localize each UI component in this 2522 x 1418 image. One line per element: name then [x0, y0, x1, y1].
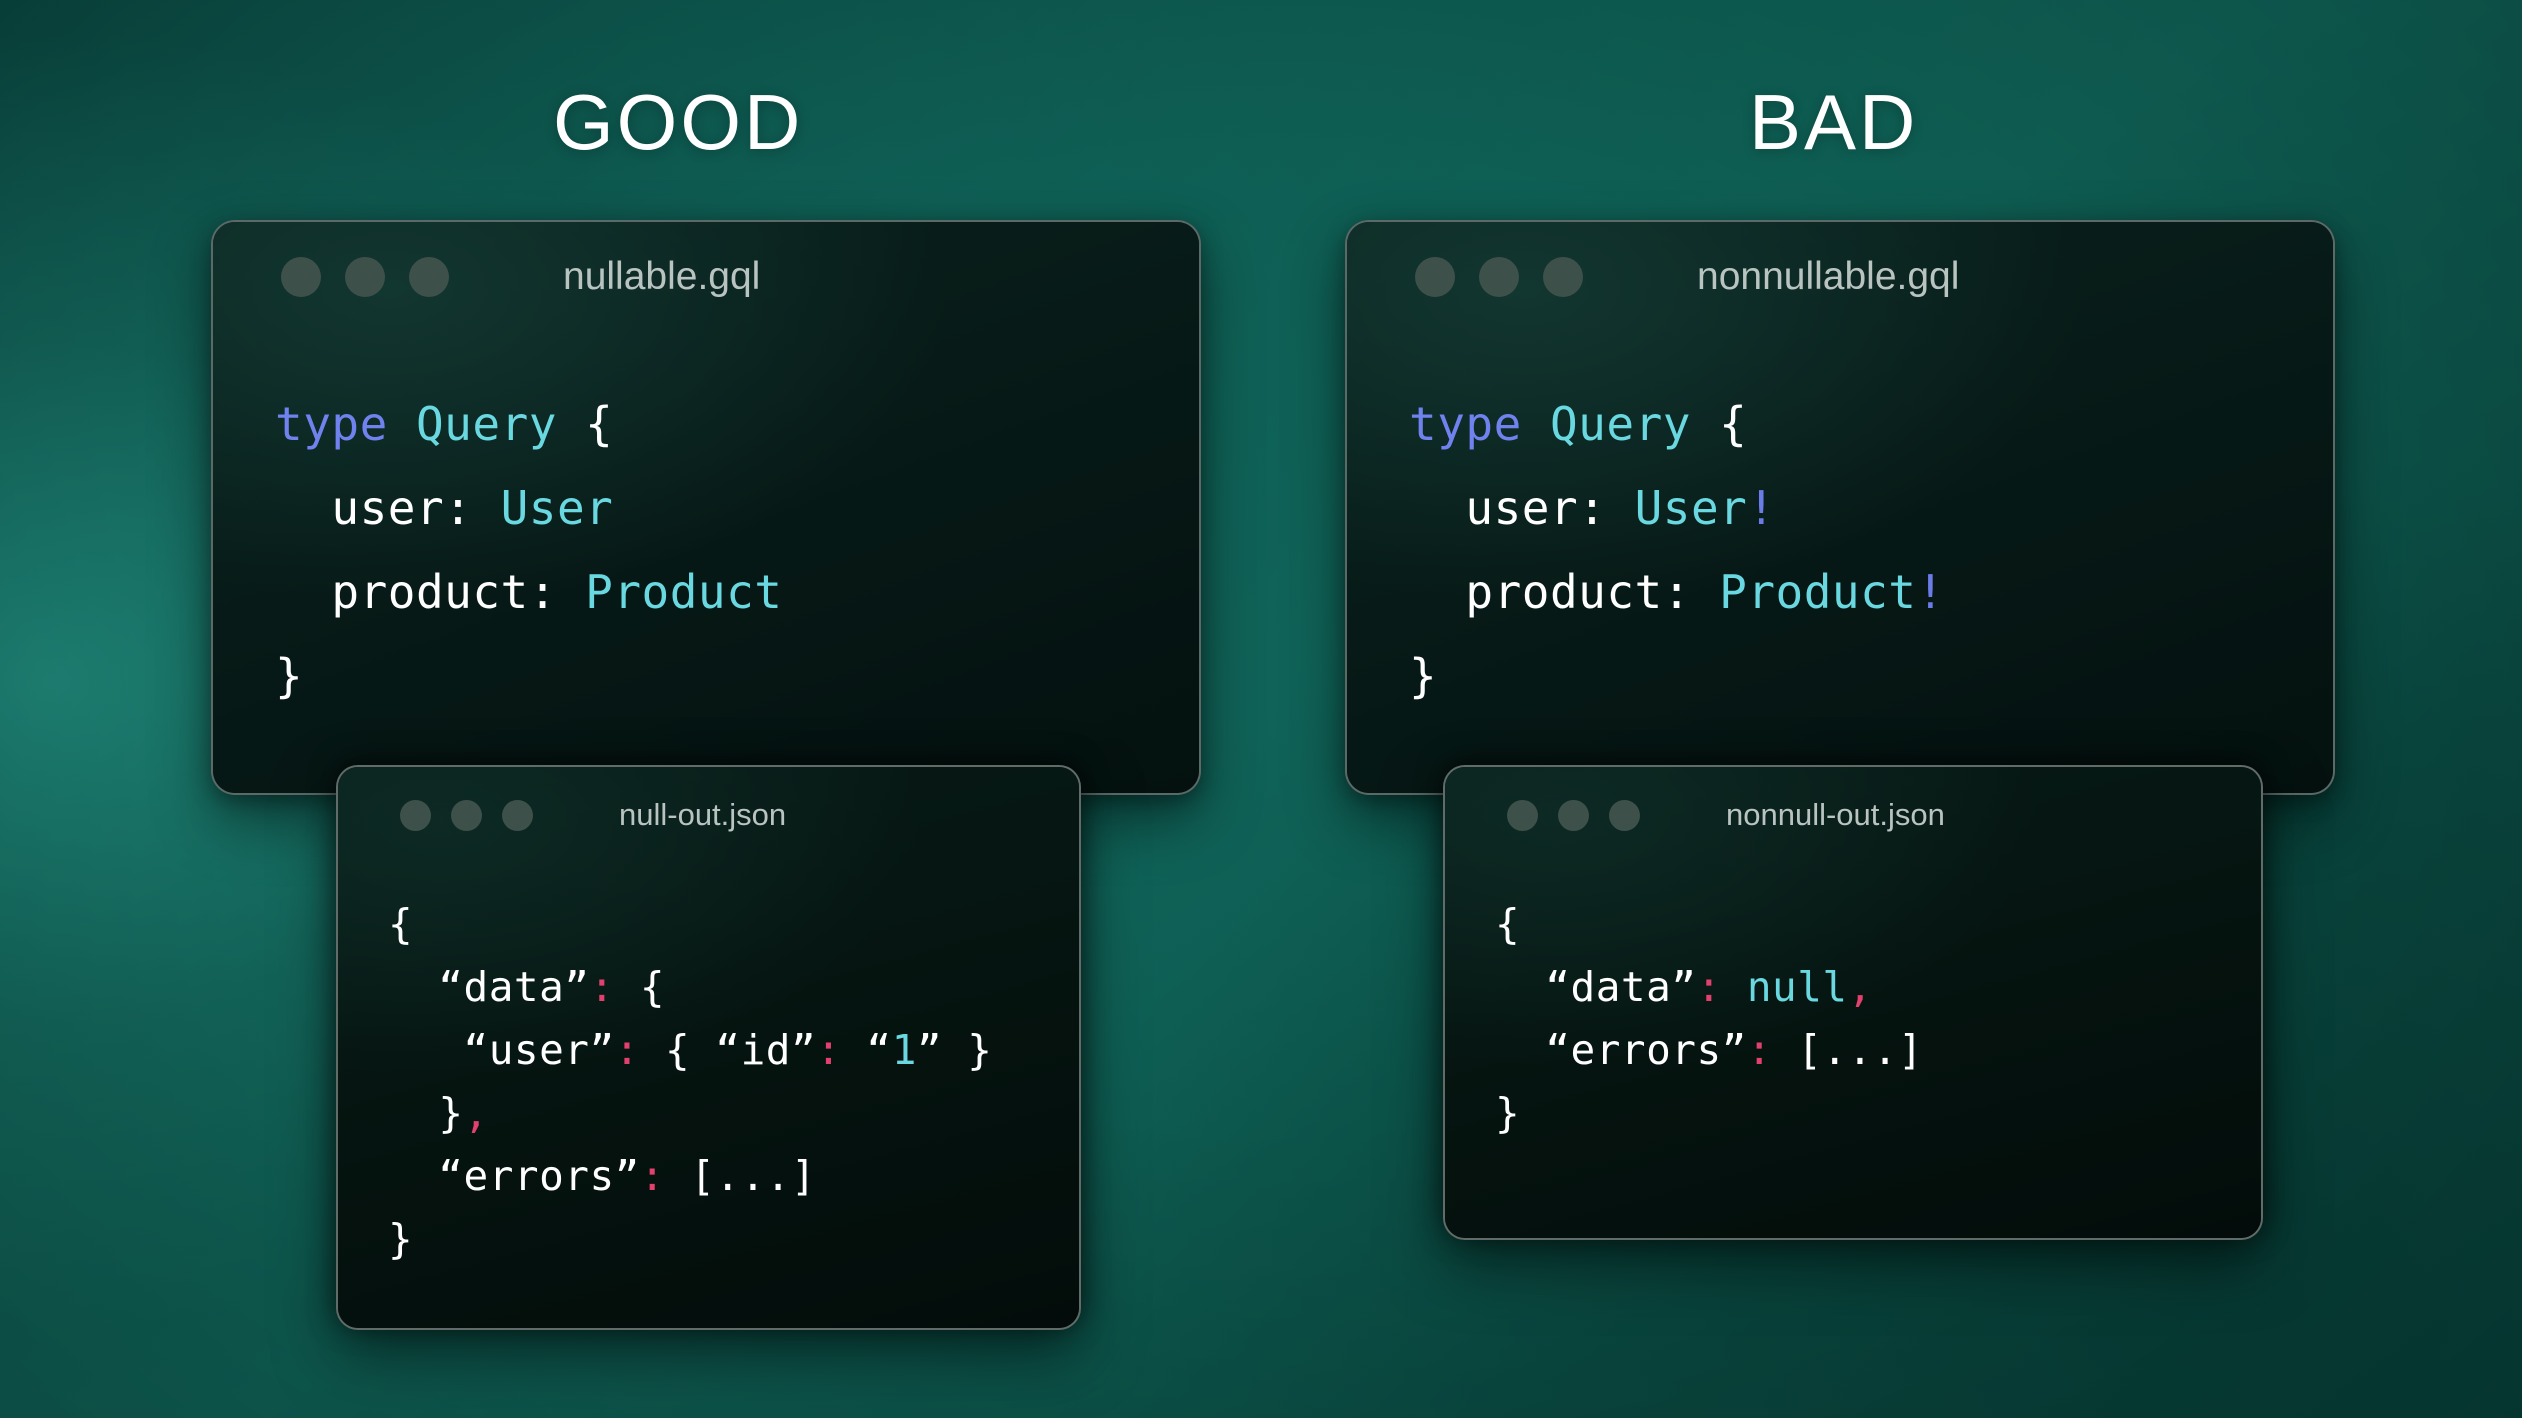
code-token-brace: } [388, 1089, 464, 1137]
window-traffic-lights[interactable] [1507, 800, 1640, 831]
code-token-punct: { [557, 397, 613, 451]
code-token-punct [388, 397, 416, 451]
code-token-field: user: [275, 481, 501, 535]
code-token-colon: : [640, 1152, 665, 1200]
window-titlebar: null-out.json [338, 767, 1079, 863]
comparison-stage: GOOD BAD nullable.gql type Query { user:… [0, 0, 2522, 1418]
code-content: type Query { user: User product: Product… [275, 382, 783, 718]
minimize-dot-icon[interactable] [345, 257, 385, 297]
window-filename: nullable.gql [563, 255, 760, 299]
window-traffic-lights[interactable] [1415, 257, 1583, 297]
code-token-key: “data” [1495, 963, 1696, 1011]
code-token-type: User [1635, 481, 1748, 535]
code-token-colon: : [1747, 1026, 1772, 1074]
code-token-punct: } [275, 649, 303, 703]
code-token-key: “errors” [1495, 1026, 1747, 1074]
code-token-brace: } [1495, 1089, 1520, 1137]
code-token-field: user: [1409, 481, 1635, 535]
minimize-dot-icon[interactable] [1479, 257, 1519, 297]
code-token-type: Product [1719, 565, 1916, 619]
window-traffic-lights[interactable] [281, 257, 449, 297]
code-token-bang: ! [1747, 481, 1775, 535]
code-token-value: 1 [892, 1026, 917, 1074]
code-token-type: Query [416, 397, 557, 451]
code-token-punct: } [1409, 649, 1437, 703]
code-content: { “data”: null, “errors”: [...] } [1495, 893, 1923, 1145]
code-token-brace: { [388, 900, 413, 948]
code-token-punct: { [1691, 397, 1747, 451]
close-dot-icon[interactable] [281, 257, 321, 297]
code-token-bang: ! [1917, 565, 1945, 619]
code-content: { “data”: { “user”: { “id”: “1” } }, “er… [388, 893, 992, 1271]
code-token-brace: [...] [665, 1152, 816, 1200]
code-token-brace: } [388, 1215, 413, 1263]
window-filename: null-out.json [619, 797, 786, 833]
maximize-dot-icon[interactable] [1543, 257, 1583, 297]
code-token-type: User [501, 481, 614, 535]
code-token-brace: { [615, 963, 665, 1011]
code-token-kw: type [275, 397, 388, 451]
window-filename: nonnullable.gql [1697, 255, 1959, 299]
code-token-key: “errors” [388, 1152, 640, 1200]
code-token-key: ” } [917, 1026, 993, 1074]
code-token-type: Query [1550, 397, 1691, 451]
code-token-key: “ [841, 1026, 891, 1074]
window-titlebar: nonnull-out.json [1445, 767, 2261, 863]
code-token-colon: : [1696, 963, 1721, 1011]
column-heading-bad: BAD [1749, 83, 1918, 161]
code-token-value: null [1747, 963, 1848, 1011]
window-traffic-lights[interactable] [400, 800, 533, 831]
maximize-dot-icon[interactable] [409, 257, 449, 297]
code-window-nonnullable-gql[interactable]: nonnullable.gql type Query { user: User!… [1345, 220, 2335, 795]
code-token-brace [1722, 963, 1747, 1011]
close-dot-icon[interactable] [1415, 257, 1455, 297]
code-token-key: “user” [388, 1026, 615, 1074]
code-token-brace: { [1495, 900, 1520, 948]
maximize-dot-icon[interactable] [1609, 800, 1640, 831]
maximize-dot-icon[interactable] [502, 800, 533, 831]
code-token-type: Product [585, 565, 782, 619]
minimize-dot-icon[interactable] [1558, 800, 1589, 831]
column-heading-good: GOOD [553, 83, 803, 161]
code-token-key: “data” [388, 963, 589, 1011]
minimize-dot-icon[interactable] [451, 800, 482, 831]
code-token-comma: , [464, 1089, 489, 1137]
code-token-colon: : [816, 1026, 841, 1074]
code-token-field: product: [1409, 565, 1719, 619]
code-content: type Query { user: User! product: Produc… [1409, 382, 1945, 718]
code-window-null-out-json[interactable]: null-out.json { “data”: { “user”: { “id”… [336, 765, 1081, 1330]
code-token-colon: : [615, 1026, 640, 1074]
code-token-kw: type [1409, 397, 1522, 451]
window-filename: nonnull-out.json [1726, 797, 1945, 833]
code-window-nullable-gql[interactable]: nullable.gql type Query { user: User pro… [211, 220, 1201, 795]
code-token-key: { “id” [640, 1026, 816, 1074]
close-dot-icon[interactable] [1507, 800, 1538, 831]
code-token-colon: : [589, 963, 614, 1011]
window-titlebar: nullable.gql [213, 222, 1199, 332]
code-token-field: product: [275, 565, 585, 619]
code-window-nonnull-out-json[interactable]: nonnull-out.json { “data”: null, “errors… [1443, 765, 2263, 1240]
code-token-comma: , [1848, 963, 1873, 1011]
code-token-brace: [...] [1772, 1026, 1923, 1074]
code-token-punct [1522, 397, 1550, 451]
window-titlebar: nonnullable.gql [1347, 222, 2333, 332]
close-dot-icon[interactable] [400, 800, 431, 831]
